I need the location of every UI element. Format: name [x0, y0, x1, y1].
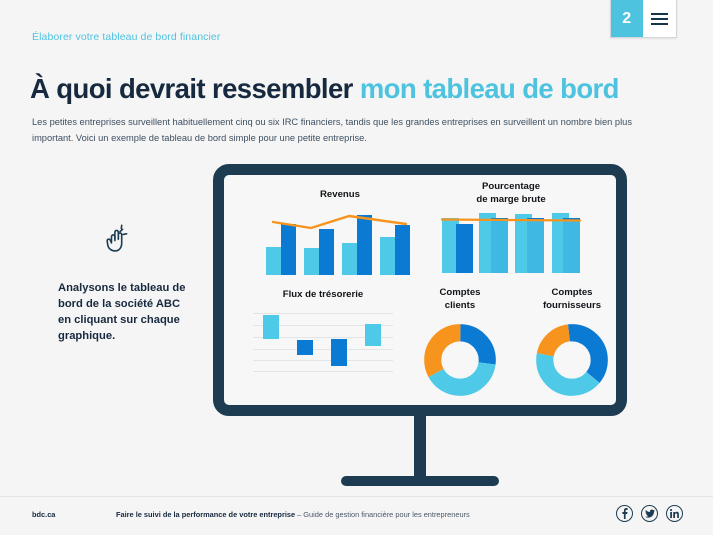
- footer-social-links: [616, 505, 683, 522]
- bar-revenus-reel: [281, 224, 296, 275]
- chart-comptes-fournisseurs[interactable]: Comptes fournisseurs: [520, 287, 624, 396]
- page-footer: bdc.ca Faire le suivi de la performance …: [0, 496, 713, 535]
- chart-title-clients-line2: clients: [445, 300, 475, 311]
- hamburger-bar: [651, 13, 668, 15]
- twitter-icon[interactable]: [641, 505, 658, 522]
- chart-title-comptes-clients: Comptes clients: [412, 287, 508, 313]
- page-title-accent: mon tableau de bord: [360, 73, 619, 104]
- dashboard-monitor: Revenus Pourcentage de: [213, 164, 627, 486]
- footer-credit: Faire le suivi de la performance de votr…: [116, 510, 470, 519]
- bar-revenus-budget: [342, 243, 357, 275]
- chart-title-comptes-fournisseurs: Comptes fournisseurs: [520, 287, 624, 313]
- page-number: 2: [611, 0, 643, 37]
- chart-title-fournisseurs-line2: fournisseurs: [543, 300, 601, 311]
- bar-marge-overlay: [491, 221, 508, 273]
- chart-title-flux: Flux de trésorerie: [248, 289, 398, 302]
- footer-credit-bold: Faire le suivi de la performance de votr…: [116, 510, 295, 519]
- bar-flux-positive: [263, 315, 279, 339]
- chart-flux-tresorerie[interactable]: [253, 313, 393, 373]
- marge-bars: [442, 211, 580, 273]
- bar-marge-overlay: [442, 218, 456, 273]
- monitor-screen: Revenus Pourcentage de: [213, 164, 627, 416]
- bar-revenus-reel: [319, 229, 334, 275]
- instruction-text: Analysons le tableau de bord de la socié…: [58, 281, 188, 345]
- linkedin-icon[interactable]: [666, 505, 683, 522]
- bar-revenus-budget: [266, 247, 281, 275]
- donut-comptes-fournisseurs: [520, 324, 624, 396]
- revenus-bars: [266, 213, 414, 275]
- gridline: [253, 313, 393, 314]
- bar-marge-overlay: [527, 221, 544, 273]
- chart-marge-brute[interactable]: [442, 211, 580, 273]
- bar-marge-overlay: [563, 221, 580, 273]
- bar-revenus-budget: [380, 237, 395, 275]
- hamburger-menu-icon[interactable]: [643, 0, 676, 37]
- gridline: [253, 360, 393, 361]
- page-title: À quoi devrait ressembler mon tableau de…: [30, 73, 619, 105]
- instruction-block: Analysons le tableau de bord de la socié…: [58, 224, 188, 345]
- chart-title-marge-line2: de marge brute: [476, 194, 545, 205]
- intro-paragraph: Les petites entreprises surveillent habi…: [32, 115, 664, 147]
- pointing-hand-click-icon: [100, 224, 188, 263]
- bar-revenus-reel: [395, 225, 410, 275]
- chart-title-fournisseurs-line1: Comptes: [551, 287, 592, 298]
- bar-revenus-reel: [357, 215, 372, 275]
- hamburger-bar: [651, 23, 668, 25]
- gridline: [253, 349, 393, 350]
- bar-revenus-budget: [304, 248, 319, 275]
- chart-revenus[interactable]: [266, 213, 414, 275]
- monitor-base: [341, 476, 499, 486]
- facebook-icon[interactable]: [616, 505, 633, 522]
- chart-title-revenus: Revenus: [266, 189, 414, 202]
- chart-comptes-clients[interactable]: Comptes clients: [412, 287, 508, 396]
- bar-marge-reel: [456, 224, 473, 273]
- bar-flux-positive: [365, 324, 381, 346]
- chart-title-marge-line1: Pourcentage: [482, 181, 540, 192]
- donut-comptes-clients: [412, 324, 508, 396]
- chart-title-clients-line1: Comptes: [439, 287, 480, 298]
- footer-credit-rest: – Guide de gestion financière pour les e…: [295, 510, 470, 519]
- bar-flux-negative: [331, 339, 347, 366]
- page-badge: 2: [610, 0, 677, 38]
- bar-flux-negative: [297, 340, 313, 355]
- donut-slice-61plus: [545, 332, 600, 387]
- monitor-neck: [414, 416, 426, 476]
- page-title-dark: À quoi devrait ressembler: [30, 73, 353, 104]
- chart-title-marge: Pourcentage de marge brute: [430, 181, 592, 207]
- donut-slice-61plus: [433, 332, 488, 387]
- hamburger-bar: [651, 18, 668, 20]
- breadcrumb[interactable]: Élaborer votre tableau de bord financier: [32, 31, 220, 43]
- footer-site-link[interactable]: bdc.ca: [32, 510, 55, 519]
- gridline: [253, 371, 393, 372]
